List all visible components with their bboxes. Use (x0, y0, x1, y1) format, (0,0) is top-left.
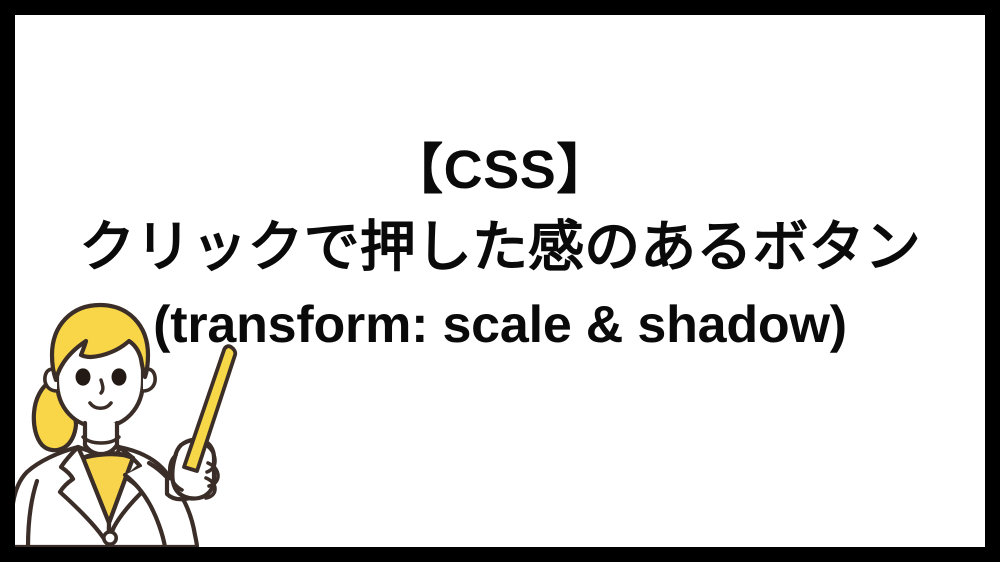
coat-button (104, 532, 116, 544)
eye-right (112, 368, 127, 385)
thumbnail-canvas: 【CSS】 クリックで押した感のあるボタン (transform: scale … (15, 15, 985, 547)
neck (85, 423, 117, 454)
woman-with-pointer-icon (15, 295, 277, 547)
nose (101, 380, 103, 393)
woman-with-pointer-illustration (15, 295, 277, 547)
title-line-1: 【CSS】 (15, 133, 985, 207)
eye-left (76, 368, 91, 385)
title-line-2: クリックで押した感のあるボタン (15, 207, 985, 287)
thumbnail-card: 【CSS】 クリックで押した感のあるボタン (transform: scale … (0, 0, 1000, 562)
